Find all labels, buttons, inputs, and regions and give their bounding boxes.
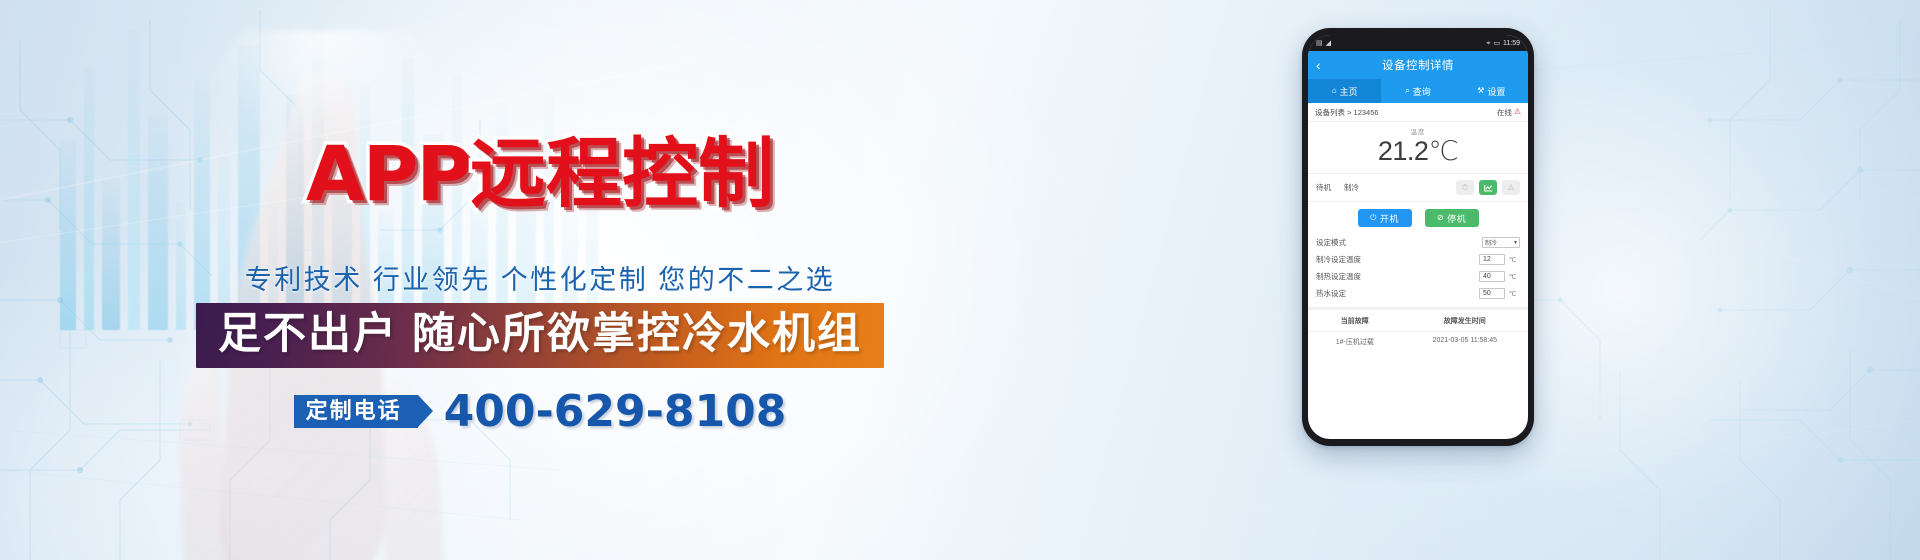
- warning-triangle-icon[interactable]: ⚠: [1514, 108, 1521, 116]
- temperature-display: 温度 21.2℃: [1308, 122, 1528, 174]
- headline: APP远程控制: [0, 136, 1080, 212]
- mode-status-row: 待机 制冷 ⏱ ⚠: [1308, 174, 1528, 202]
- tab-query[interactable]: ⌕ 查询: [1381, 79, 1454, 103]
- setting-unit-heat-temp: ℃: [1505, 273, 1520, 281]
- setting-row-heat-temp: 制热设定温度 40 ℃: [1316, 268, 1520, 285]
- setting-input-hot-water[interactable]: 50: [1479, 288, 1505, 299]
- status-badge-label: 在线: [1497, 107, 1512, 118]
- setting-input-heat-temp[interactable]: 40: [1479, 271, 1505, 282]
- power-off-label: 停机: [1447, 212, 1466, 225]
- phone-mockup: ▤ ◢ ⌖ ▭ 11:59 ‹ 设备控制详情 ⌂ 主页 ⌕: [1302, 28, 1534, 446]
- settings-list: 设定模式 制冷 ▾ 制冷设定温度 12 ℃ 制热设定温度 40 ℃: [1308, 234, 1528, 302]
- mode-icon-buttons: ⏱ ⚠: [1456, 180, 1520, 195]
- signal-icon: ◢: [1326, 40, 1331, 47]
- temperature-label: 温度: [1308, 126, 1528, 136]
- breadcrumb-row: 设备列表 > 123456 在线 ⚠: [1308, 103, 1528, 122]
- power-on-label: 开机: [1380, 212, 1399, 225]
- location-icon: ⌖: [1486, 40, 1490, 47]
- setting-label-heat-temp: 制热设定温度: [1316, 271, 1479, 282]
- fault-cell-name: 1#-压机过载: [1308, 337, 1402, 347]
- status-bar-time: 11:59: [1503, 40, 1520, 47]
- power-icon: ⏻: [1370, 214, 1377, 222]
- setting-unit-hot-water: ℃: [1505, 290, 1520, 298]
- app-header: ‹ 设备控制详情: [1308, 51, 1528, 79]
- battery-icon: ▭: [1493, 40, 1500, 47]
- mode-tag-cooling: 制冷: [1344, 182, 1359, 193]
- status-bar-left-icons: ▤ ◢: [1316, 40, 1331, 47]
- marketing-copy: APP远程控制 专利技术 行业领先 个性化定制 您的不二之选 足不出户 随心所欲…: [0, 0, 1080, 560]
- power-on-button[interactable]: ⏻ 开机: [1358, 209, 1412, 227]
- online-status-badge: 在线 ⚠: [1497, 107, 1521, 118]
- tagline-band-wrapper: 足不出户 随心所欲掌控冷水机组: [0, 303, 1080, 368]
- power-button-row: ⏻ 开机 ⊘ 停机: [1308, 202, 1528, 234]
- timer-icon[interactable]: ⏱: [1456, 180, 1474, 195]
- setting-input-cool-temp[interactable]: 12: [1479, 254, 1505, 265]
- cta-phone-number[interactable]: 400-629-8108: [444, 386, 787, 437]
- setting-label-hot-water: 热水设定: [1316, 288, 1479, 299]
- wrench-icon: ⚒: [1477, 87, 1484, 95]
- setting-select-mode[interactable]: 制冷 ▾: [1482, 237, 1520, 248]
- chart-icon[interactable]: [1479, 180, 1497, 195]
- tab-query-label: 查询: [1413, 85, 1431, 98]
- tab-settings-label: 设置: [1487, 85, 1505, 98]
- stop-icon: ⊘: [1437, 214, 1444, 222]
- tab-home[interactable]: ⌂ 主页: [1308, 79, 1381, 103]
- home-icon: ⌂: [1332, 87, 1337, 95]
- setting-label-cool-temp: 制冷设定温度: [1316, 254, 1479, 265]
- setting-unit-cool-temp: ℃: [1505, 256, 1520, 264]
- tagline-band: 足不出户 随心所欲掌控冷水机组: [196, 303, 884, 368]
- table-row[interactable]: 1#-压机过载 2021-03-05 11:58:45: [1308, 331, 1528, 352]
- setting-row-hot-water: 热水设定 50 ℃: [1316, 285, 1520, 302]
- power-off-button[interactable]: ⊘ 停机: [1425, 209, 1479, 227]
- back-chevron-icon[interactable]: ‹: [1316, 58, 1321, 72]
- call-to-action: 定制电话 400-629-8108: [0, 386, 1080, 437]
- mode-tag-standby: 待机: [1316, 182, 1331, 193]
- fault-table-header: 当前故障 故障发生时间: [1308, 310, 1528, 331]
- tab-settings[interactable]: ⚒ 设置: [1455, 79, 1528, 103]
- fault-table: 当前故障 故障发生时间 1#-压机过载 2021-03-05 11:58:45: [1308, 307, 1528, 352]
- app-tab-bar: ⌂ 主页 ⌕ 查询 ⚒ 设置: [1308, 79, 1528, 103]
- phone-screen: ▤ ◢ ⌖ ▭ 11:59 ‹ 设备控制详情 ⌂ 主页 ⌕: [1308, 35, 1528, 439]
- temperature-value: 21.2℃: [1308, 136, 1528, 166]
- headline-latin: APP: [306, 129, 470, 218]
- fault-col-time: 故障发生时间: [1402, 316, 1528, 326]
- chevron-down-icon: ▾: [1514, 239, 1517, 246]
- search-icon: ⌕: [1405, 87, 1409, 95]
- phone-status-bar: ▤ ◢ ⌖ ▭ 11:59: [1308, 35, 1528, 51]
- tab-home-label: 主页: [1340, 85, 1358, 98]
- setting-row-cool-temp: 制冷设定温度 12 ℃: [1316, 251, 1520, 268]
- promotional-banner: APP远程控制 专利技术 行业领先 个性化定制 您的不二之选 足不出户 随心所欲…: [0, 0, 1920, 560]
- subtitle: 专利技术 行业领先 个性化定制 您的不二之选: [0, 258, 1080, 297]
- status-bar-right: ⌖ ▭ 11:59: [1486, 40, 1520, 47]
- mode-tags: 待机 制冷: [1316, 182, 1359, 193]
- setting-value-mode: 制冷: [1485, 238, 1497, 247]
- sim-icon: ▤: [1316, 40, 1323, 47]
- setting-row-mode: 设定模式 制冷 ▾: [1316, 234, 1520, 251]
- cta-label-tag: 定制电话: [294, 395, 418, 428]
- fault-cell-time: 2021-03-05 11:58:45: [1402, 337, 1528, 347]
- headline-cjk: 远程控制: [470, 129, 774, 218]
- alarm-icon[interactable]: ⚠: [1502, 180, 1520, 195]
- setting-label-mode: 设定模式: [1316, 237, 1482, 248]
- fault-col-current: 当前故障: [1308, 316, 1402, 326]
- app-title: 设备控制详情: [1308, 57, 1528, 73]
- breadcrumb[interactable]: 设备列表 > 123456: [1315, 107, 1379, 118]
